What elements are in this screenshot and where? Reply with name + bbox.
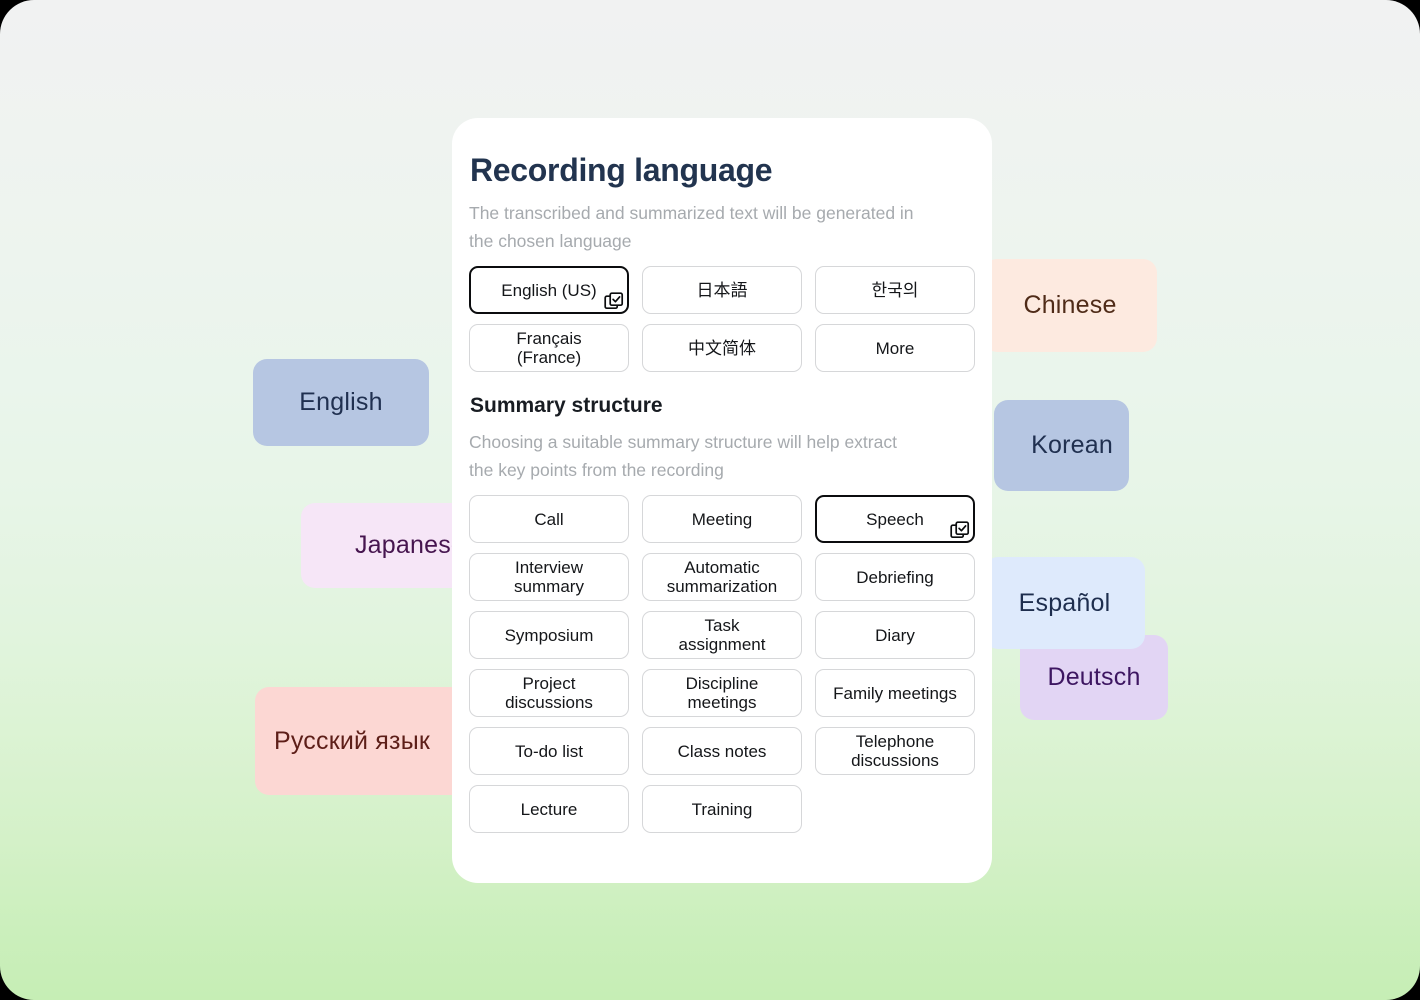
option-label: Diary <box>875 626 915 645</box>
background-chip-russian: Русский язык <box>255 687 470 795</box>
option-label: Speech <box>866 510 924 529</box>
option-label: Symposium <box>505 626 594 645</box>
summary-structure-option[interactable]: Training <box>642 785 802 833</box>
option-label: Training <box>692 800 753 819</box>
option-label: English (US) <box>501 281 596 300</box>
chip-label: Русский язык <box>274 727 430 756</box>
checkbox-checked-icon <box>604 291 624 311</box>
summary-structure-option[interactable]: Family meetings <box>815 669 975 717</box>
chip-label: Korean <box>1031 431 1113 460</box>
summary-structure-option[interactable]: Debriefing <box>815 553 975 601</box>
summary-structure-option[interactable]: Telephone discussions <box>815 727 975 775</box>
option-label: Meeting <box>692 510 752 529</box>
summary-structure-option[interactable]: Meeting <box>642 495 802 543</box>
summary-structure-heading: Summary structure <box>469 394 975 418</box>
option-label: Project discussions <box>505 674 593 712</box>
recording-language-option[interactable]: Français (France) <box>469 324 629 372</box>
option-label: To-do list <box>515 742 583 761</box>
background-chip-chinese: Chinese <box>983 259 1157 352</box>
summary-structure-description: Choosing a suitable summary structure wi… <box>469 428 924 484</box>
chip-label: English <box>299 388 382 417</box>
option-label: Telephone discussions <box>851 732 939 770</box>
summary-structure-option[interactable]: Symposium <box>469 611 629 659</box>
option-label: Call <box>534 510 563 529</box>
option-label: More <box>876 339 915 358</box>
summary-structure-option[interactable]: Project discussions <box>469 669 629 717</box>
summary-structure-option[interactable]: Automatic summarization <box>642 553 802 601</box>
background-chip-espanol: Español <box>984 557 1145 649</box>
option-label: Interview summary <box>514 558 584 596</box>
screen-stage: English Japanese Русский язык Chinese Ko… <box>0 0 1420 1000</box>
summary-structure-options: CallMeetingSpeechInterview summaryAutoma… <box>469 495 975 833</box>
background-chip-korean: Korean <box>994 400 1129 491</box>
recording-language-option[interactable]: English (US) <box>469 266 629 314</box>
recording-language-option[interactable]: 中文简体 <box>642 324 802 372</box>
summary-structure-option[interactable]: Task assignment <box>642 611 802 659</box>
summary-structure-option[interactable]: Discipline meetings <box>642 669 802 717</box>
summary-structure-option[interactable]: Call <box>469 495 629 543</box>
recording-language-description: The transcribed and summarized text will… <box>469 199 924 255</box>
summary-structure-option[interactable]: Lecture <box>469 785 629 833</box>
option-label: 한국의 <box>872 281 919 300</box>
recording-language-option[interactable]: More <box>815 324 975 372</box>
option-label: Class notes <box>678 742 767 761</box>
chip-label: Chinese <box>1023 291 1116 320</box>
recording-language-option[interactable]: 한국의 <box>815 266 975 314</box>
option-label: 日本語 <box>697 281 748 300</box>
recording-language-option[interactable]: 日本語 <box>642 266 802 314</box>
background-chip-english: English <box>253 359 429 446</box>
option-label: Family meetings <box>833 684 957 703</box>
summary-structure-option[interactable]: Diary <box>815 611 975 659</box>
chip-label: Español <box>1019 589 1111 618</box>
option-label: Discipline meetings <box>686 674 759 712</box>
summary-structure-option[interactable]: To-do list <box>469 727 629 775</box>
option-label: Automatic summarization <box>667 558 778 596</box>
recording-language-options: English (US)日本語한국의Français (France)中文简体M… <box>469 266 975 372</box>
option-label: Français (France) <box>516 329 581 367</box>
checkbox-checked-icon <box>950 520 970 540</box>
summary-structure-option[interactable]: Interview summary <box>469 553 629 601</box>
summary-structure-option[interactable]: Speech <box>815 495 975 543</box>
page-title: Recording language <box>469 152 975 189</box>
chip-label: Japanese <box>355 531 465 560</box>
option-label: 中文简体 <box>688 339 756 358</box>
chip-label: Deutsch <box>1047 663 1140 692</box>
option-label: Task assignment <box>679 616 766 654</box>
summary-structure-option[interactable]: Class notes <box>642 727 802 775</box>
recording-settings-panel: Recording language The transcribed and s… <box>452 118 992 883</box>
option-label: Debriefing <box>856 568 934 587</box>
option-label: Lecture <box>521 800 578 819</box>
